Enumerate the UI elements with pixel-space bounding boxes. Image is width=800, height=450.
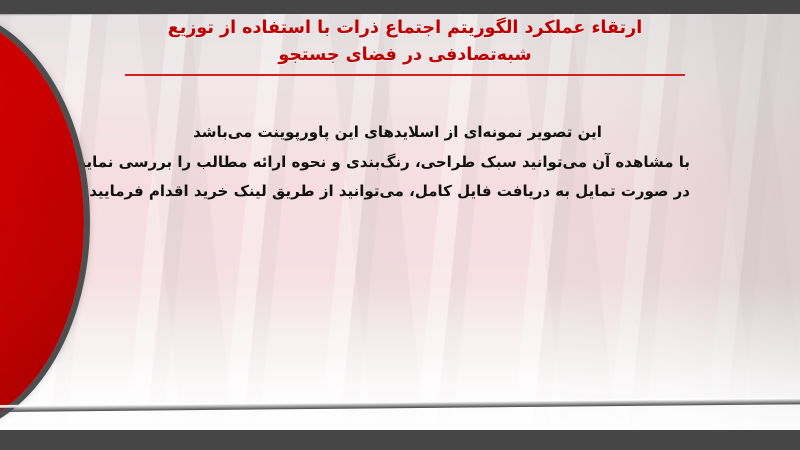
slide-title-block: ارتقاء عملکرد الگوریتم اجتماع ذرات با اس…	[110, 15, 700, 76]
slide-viewer: ارتقاء عملکرد الگوریتم اجتماع ذرات با اس…	[0, 0, 800, 450]
slide-body-block: این تصویر نمونه‌ای از اسلایدهای این پاور…	[105, 121, 690, 203]
slide-title: ارتقاء عملکرد الگوریتم اجتماع ذرات با اس…	[110, 15, 700, 69]
slide-title-line-2: شبه‌تصادفی در فضای جستجو	[278, 45, 531, 65]
bottom-frame-bar	[0, 430, 800, 450]
title-underline-rule	[125, 74, 685, 76]
body-line-1: این تصویر نمونه‌ای از اسلایدهای این پاور…	[105, 121, 690, 144]
slide-surface: ارتقاء عملکرد الگوریتم اجتماع ذرات با اس…	[0, 11, 800, 432]
body-line-3: در صورت تمایل به دریافت فایل کامل، می‌تو…	[105, 180, 690, 203]
body-line-2: با مشاهده آن می‌توانید سبک طراحی، رنگ‌بن…	[105, 151, 690, 174]
slide-title-line-1: ارتقاء عملکرد الگوریتم اجتماع ذرات با اس…	[168, 18, 642, 38]
top-frame-bar	[0, 0, 800, 14]
